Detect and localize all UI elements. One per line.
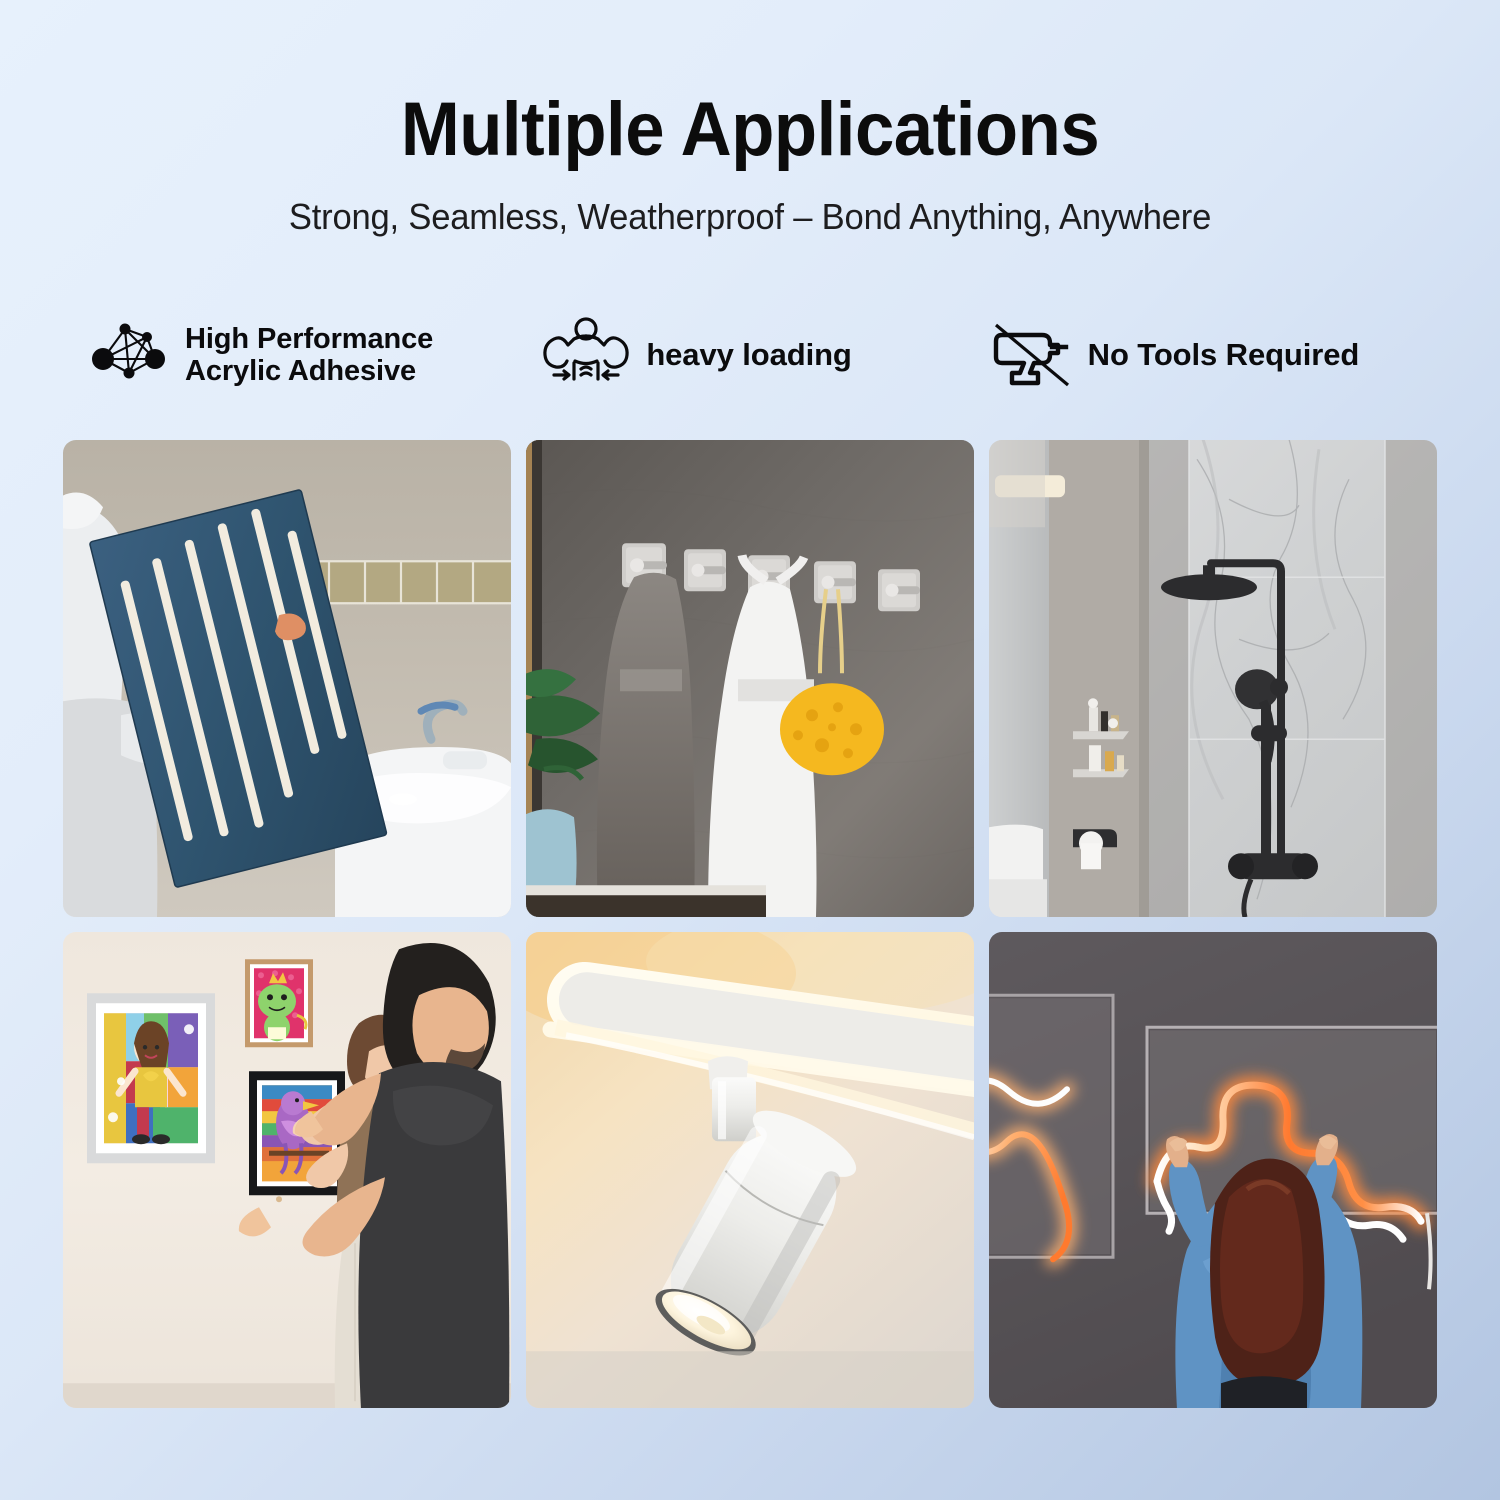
photo-framed-art-hanging — [63, 932, 511, 1409]
page-title: Multiple Applications — [53, 86, 1448, 173]
photo-marble-shower — [989, 440, 1437, 917]
feature-heavy-loading: heavy loading — [532, 305, 987, 405]
photo-neon-strip-light — [989, 932, 1437, 1409]
photo-ceiling-spotlight — [526, 932, 974, 1409]
feature-label: No Tools Required — [1088, 338, 1360, 373]
application-photo-grid — [63, 440, 1437, 1408]
feature-high-performance-acrylic-adhesive: High Performance Acrylic Adhesive — [63, 305, 532, 405]
feature-label: High Performance Acrylic Adhesive — [185, 323, 433, 388]
feature-no-tools-required: No Tools Required — [988, 305, 1437, 405]
infographic-page: Multiple Applications Strong, Seamless, … — [0, 0, 1500, 1500]
no-drill-icon — [990, 315, 1074, 396]
photo-adhesive-wall-hooks — [526, 440, 974, 917]
photo-bathroom-panel-install — [63, 440, 511, 917]
page-subtitle: Strong, Seamless, Weatherproof – Bond An… — [30, 196, 1470, 238]
molecule-network-icon — [85, 315, 171, 396]
feature-label: heavy loading — [646, 338, 851, 373]
feature-row: High Performance Acrylic Adhesive — [63, 305, 1437, 405]
strong-arms-icon — [540, 315, 632, 396]
